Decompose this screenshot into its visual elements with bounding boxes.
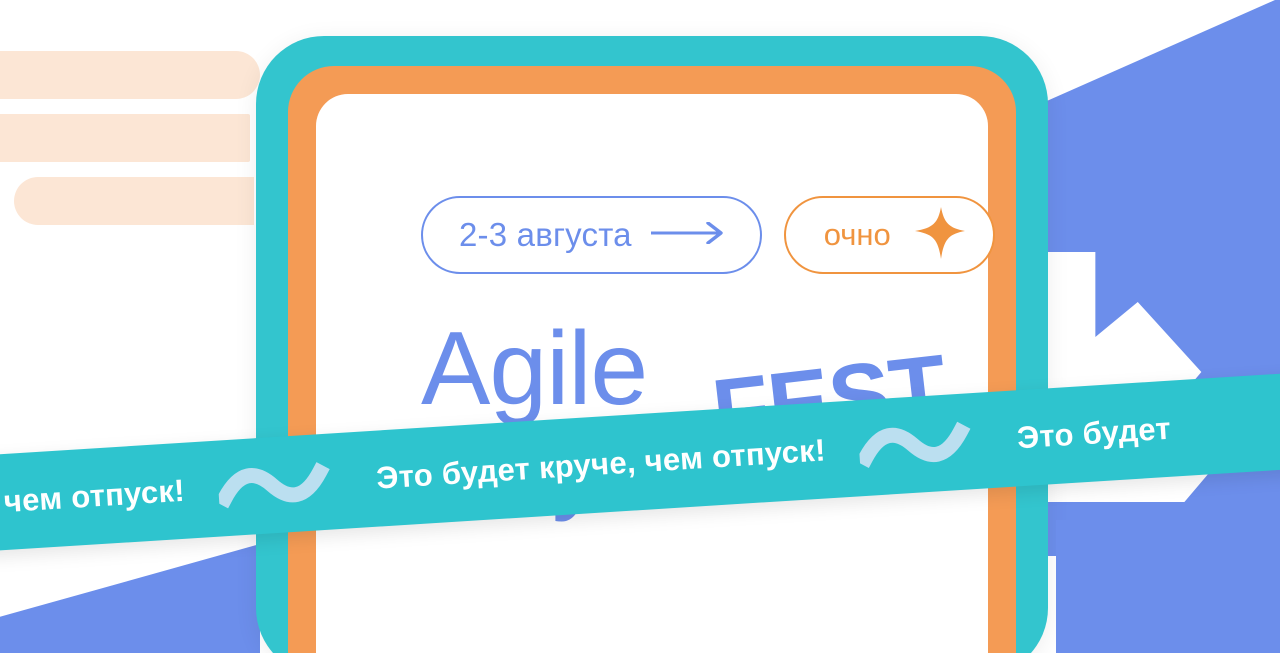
date-pill[interactable]: 2-3 августа (421, 196, 762, 274)
blue-polygon-bottom-left (0, 530, 260, 653)
phone-screen-card: 2-3 августа очно (316, 94, 988, 653)
ribbon-message: Это будет круче, чем отпуск! (375, 432, 826, 496)
pill-row: 2-3 августа очно (421, 196, 995, 274)
ribbon-message: Это будет (1016, 411, 1172, 457)
wave-squiggle-icon (217, 459, 344, 511)
sparkle-star-icon (911, 205, 967, 266)
format-pill-label: очно (824, 217, 891, 253)
phone-frame-outer: 2-3 августа очно (256, 36, 1048, 653)
peach-bar-top (0, 51, 260, 99)
phone-frame-orange: 2-3 августа очно (288, 66, 1016, 653)
format-pill[interactable]: очно (784, 196, 995, 274)
peach-bar-bottom (14, 177, 254, 225)
promo-banner: 2-3 августа очно (0, 0, 1280, 653)
date-pill-label: 2-3 августа (459, 216, 632, 254)
wave-squiggle-icon (858, 419, 985, 471)
blue-polygon-bottom-right (1056, 520, 1280, 653)
logo-line-agile: Agile (421, 322, 654, 418)
ribbon-message: руче, чем отпуск! (0, 473, 186, 526)
peach-bar-middle (0, 114, 250, 162)
long-arrow-right-icon (650, 222, 730, 249)
